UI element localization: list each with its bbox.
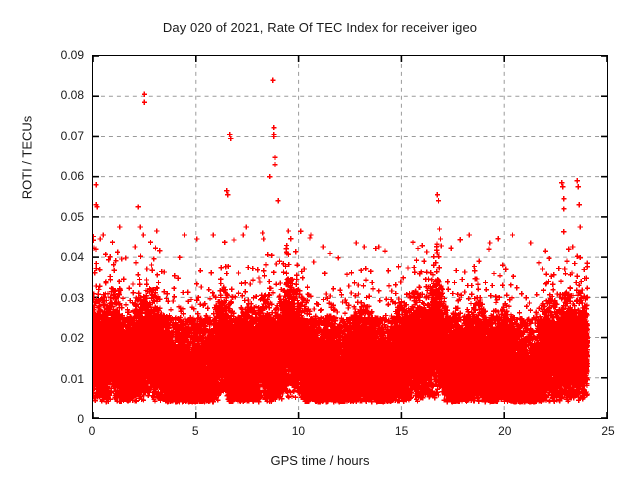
x-tick-label: 0 — [62, 424, 122, 438]
x-tick-label: 25 — [578, 424, 638, 438]
y-tick-label: 0.04 — [24, 250, 84, 264]
plot-area — [92, 55, 608, 419]
y-axis-tick-labels: 00.010.020.030.040.050.060.070.080.09 — [20, 55, 84, 419]
chart-screenshot: Day 020 of 2021, Rate Of TEC Index for r… — [0, 0, 640, 480]
y-tick-label: 0.07 — [24, 129, 84, 143]
y-tick-label: 0.03 — [24, 291, 84, 305]
y-tick-label: 0.06 — [24, 169, 84, 183]
y-tick-label: 0.02 — [24, 331, 84, 345]
x-tick-label: 10 — [268, 424, 328, 438]
x-axis-tick-labels: 0510152025 — [92, 424, 608, 444]
y-tick-label: 0.08 — [24, 88, 84, 102]
x-axis-label: GPS time / hours — [0, 453, 640, 468]
y-tick-label: 0.05 — [24, 210, 84, 224]
chart-title: Day 020 of 2021, Rate Of TEC Index for r… — [0, 20, 640, 35]
x-tick-label: 20 — [475, 424, 535, 438]
axis-ticks — [93, 56, 607, 418]
grid-lines — [93, 56, 607, 418]
y-tick-label: 0.01 — [24, 372, 84, 386]
y-tick-label: 0.09 — [24, 48, 84, 62]
x-tick-label: 5 — [165, 424, 225, 438]
scatter-points — [93, 56, 607, 418]
x-tick-label: 15 — [372, 424, 432, 438]
